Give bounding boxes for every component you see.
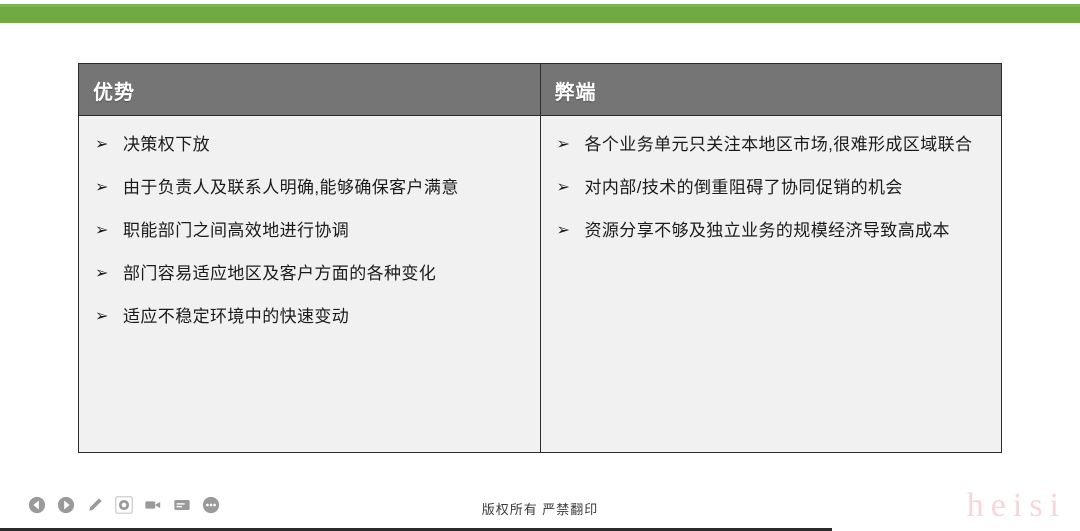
- list-item: ➢ 部门容易适应地区及客户方面的各种变化: [89, 257, 530, 290]
- column-header-advantages: 优势: [79, 64, 541, 116]
- bullet-arrow-icon: ➢: [95, 214, 109, 247]
- list-item-label: 由于负责人及联系人明确,能够确保客户满意: [123, 178, 459, 197]
- cell-advantages: ➢ 决策权下放 ➢ 由于负责人及联系人明确,能够确保客户满意 ➢ 职能部门之间高…: [79, 116, 541, 453]
- copyright-footer: 版权所有 严禁翻印: [0, 499, 1080, 518]
- drawbacks-list: ➢ 各个业务单元只关注本地区市场,很难形成区域联合 ➢ 对内部/技术的倒重阻碍了…: [551, 128, 992, 247]
- list-item-label: 资源分享不够及独立业务的规模经济导致高成本: [585, 221, 950, 240]
- list-item-label: 部门容易适应地区及客户方面的各种变化: [123, 264, 436, 283]
- slide-canvas: 优势 弊端 ➢ 决策权下放 ➢ 由于负责人及联系人明确,能够确保客户满意: [0, 23, 1080, 485]
- advantages-list: ➢ 决策权下放 ➢ 由于负责人及联系人明确,能够确保客户满意 ➢ 职能部门之间高…: [89, 128, 530, 333]
- list-item: ➢ 职能部门之间高效地进行协调: [89, 214, 530, 247]
- list-item-label: 适应不稳定环境中的快速变动: [123, 307, 349, 326]
- list-item: ➢ 资源分享不够及独立业务的规模经济导致高成本: [551, 214, 992, 247]
- column-header-drawbacks: 弊端: [540, 64, 1002, 116]
- table-header-row: 优势 弊端: [79, 64, 1002, 116]
- watermark-label: heisi: [967, 487, 1066, 525]
- list-item: ➢ 决策权下放: [89, 128, 530, 161]
- list-item: ➢ 适应不稳定环境中的快速变动: [89, 300, 530, 333]
- bullet-arrow-icon: ➢: [557, 171, 571, 204]
- bullet-arrow-icon: ➢: [557, 214, 571, 247]
- comparison-table: 优势 弊端 ➢ 决策权下放 ➢ 由于负责人及联系人明确,能够确保客户满意: [78, 63, 1002, 453]
- bullet-arrow-icon: ➢: [95, 300, 109, 333]
- cell-drawbacks: ➢ 各个业务单元只关注本地区市场,很难形成区域联合 ➢ 对内部/技术的倒重阻碍了…: [540, 116, 1002, 453]
- list-item-label: 职能部门之间高效地进行协调: [123, 221, 349, 240]
- table-body-row: ➢ 决策权下放 ➢ 由于负责人及联系人明确,能够确保客户满意 ➢ 职能部门之间高…: [79, 116, 1002, 453]
- list-item-label: 决策权下放: [123, 135, 210, 154]
- top-accent-bar-highlight: [0, 4, 1080, 7]
- list-item: ➢ 由于负责人及联系人明确,能够确保客户满意: [89, 171, 530, 204]
- bullet-arrow-icon: ➢: [95, 128, 109, 161]
- list-item-label: 各个业务单元只关注本地区市场,很难形成区域联合: [585, 135, 973, 154]
- list-item-label: 对内部/技术的倒重阻碍了协同促销的机会: [585, 178, 903, 197]
- bottom-toolbar: 版权所有 严禁翻印 heisi: [0, 485, 1080, 531]
- bullet-arrow-icon: ➢: [95, 171, 109, 204]
- bullet-arrow-icon: ➢: [557, 128, 571, 161]
- bullet-arrow-icon: ➢: [95, 257, 109, 290]
- list-item: ➢ 各个业务单元只关注本地区市场,很难形成区域联合: [551, 128, 992, 161]
- list-item: ➢ 对内部/技术的倒重阻碍了协同促销的机会: [551, 171, 992, 204]
